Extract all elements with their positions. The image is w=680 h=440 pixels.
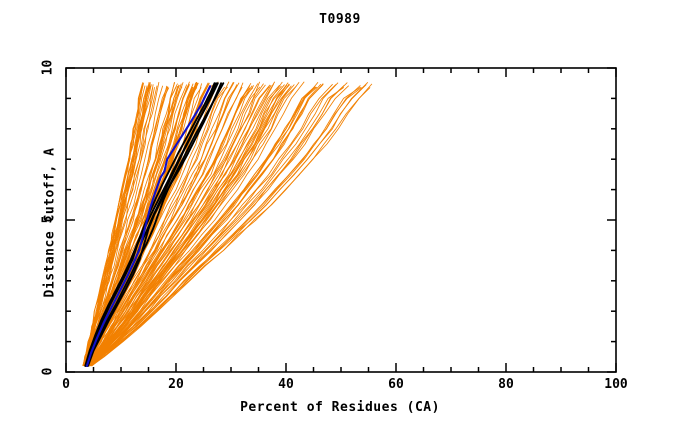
y-tick-label: 10 (41, 58, 56, 78)
x-tick-label: 100 (596, 377, 636, 392)
x-tick-label: 80 (486, 377, 526, 392)
y-tick-label: 5 (41, 210, 56, 230)
x-tick-label: 20 (156, 377, 196, 392)
figure-canvas: T0989 Distance Cutoff, A Percent of Resi… (0, 0, 680, 440)
curves-layer (83, 82, 372, 366)
plot-area (0, 0, 680, 440)
y-tick-label: 0 (41, 362, 56, 382)
x-tick-label: 60 (376, 377, 416, 392)
x-tick-label: 40 (266, 377, 306, 392)
